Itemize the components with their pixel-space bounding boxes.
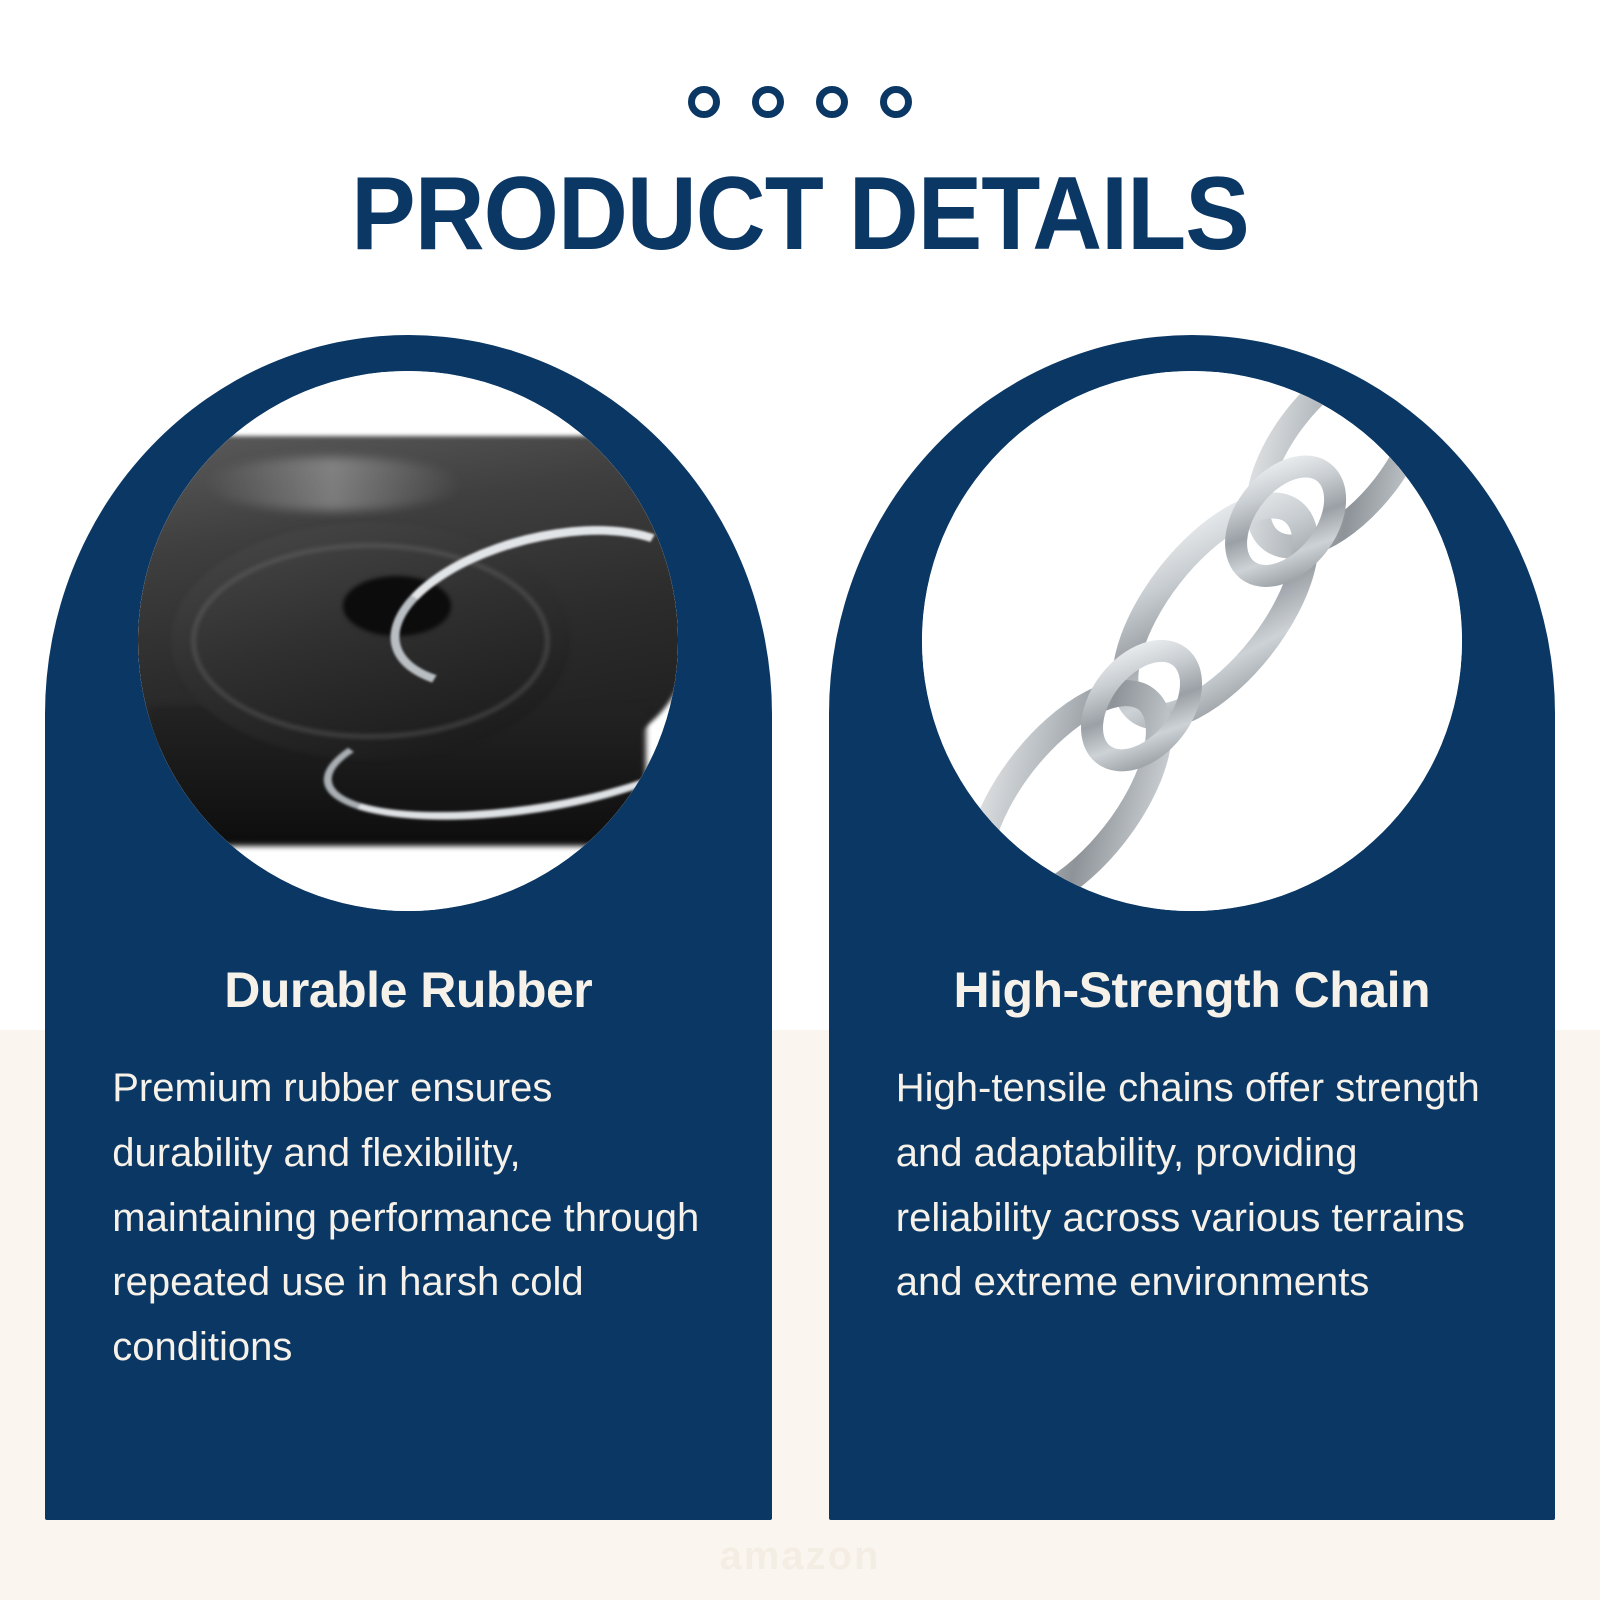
- card-heading-durable-rubber: Durable Rubber: [204, 963, 612, 1018]
- rubber-grommet-photo: [138, 371, 678, 911]
- watermark-text: amazon: [0, 1534, 1600, 1579]
- card-body-high-strength-chain: High-tensile chains offer strength and a…: [892, 1056, 1492, 1315]
- circle-outline-icon-2: [752, 86, 784, 118]
- feature-card-durable-rubber: Durable Rubber Premium rubber ensures du…: [45, 335, 772, 1520]
- circle-outline-icon-4: [880, 86, 912, 118]
- chain-link-lower: [945, 664, 1192, 911]
- chain-illustration: [922, 371, 1462, 911]
- feature-card-high-strength-chain: High-Strength Chain High-tensile chains …: [829, 335, 1556, 1520]
- card-heading-high-strength-chain: High-Strength Chain: [933, 963, 1450, 1018]
- decorative-dots-row: [0, 86, 1600, 118]
- card-image-durable-rubber: [138, 371, 678, 911]
- chain-links-photo: [922, 371, 1462, 911]
- page-title: PRODUCT DETAILS: [56, 160, 1544, 269]
- feature-cards-container: Durable Rubber Premium rubber ensures du…: [45, 335, 1555, 1520]
- circle-outline-icon-3: [816, 86, 848, 118]
- circle-outline-icon-1: [688, 86, 720, 118]
- card-image-high-strength-chain: [922, 371, 1462, 911]
- product-details-infographic: PRODUCT DETAILS Durable Rubber Premium r…: [0, 0, 1600, 1600]
- chain-link-back: [1226, 371, 1452, 575]
- card-body-durable-rubber: Premium rubber ensures durability and fl…: [108, 1056, 708, 1380]
